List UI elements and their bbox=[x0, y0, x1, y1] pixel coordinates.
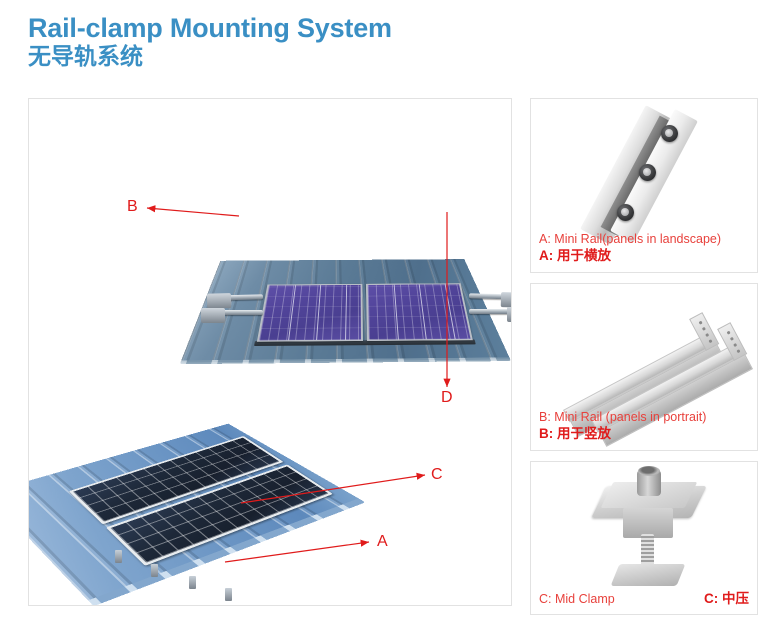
rail-end-plate bbox=[717, 322, 747, 361]
callout-label-c: C bbox=[431, 466, 443, 484]
rail-end-cap-icon bbox=[201, 308, 225, 323]
roof-mounting-foot bbox=[115, 550, 122, 563]
roof-mounting-foot bbox=[151, 564, 158, 577]
clamp-cap-nut-icon bbox=[637, 470, 661, 496]
nut-top-icon bbox=[638, 466, 660, 476]
card-caption-chinese: C: 中压 bbox=[704, 590, 749, 607]
page-header: Rail-clamp Mounting System 无导轨系统 bbox=[28, 14, 528, 70]
page-root: Rail-clamp Mounting System 无导轨系统 bbox=[0, 0, 763, 617]
product-card-mini-rail-landscape[interactable]: A: Mini Rail(panels in landscape) A: 用于横… bbox=[530, 98, 758, 273]
roof-mounting-foot bbox=[189, 576, 196, 589]
figure-mini-rail-portrait bbox=[531, 284, 757, 424]
product-card-mini-rail-portrait[interactable]: B: Mini Rail (panels in portrait) B: 用于竖… bbox=[530, 283, 758, 451]
scene-landscape-array bbox=[29, 99, 512, 384]
rail-end-cap-icon bbox=[501, 292, 512, 308]
rail-end-cap-icon bbox=[207, 293, 231, 309]
rail-bolt-icon bbox=[661, 125, 678, 142]
page-title-english: Rail-clamp Mounting System bbox=[28, 14, 528, 42]
figure-mini-rail-landscape bbox=[531, 99, 757, 249]
main-illustration-panel: B D C A bbox=[28, 98, 512, 606]
product-card-mid-clamp[interactable]: C: Mid Clamp C: 中压 bbox=[530, 461, 758, 615]
scene-portrait-array bbox=[29, 374, 512, 606]
card-caption-english: B: Mini Rail (panels in portrait) bbox=[539, 410, 749, 425]
rail-end-cap-icon bbox=[507, 307, 512, 322]
page-title-chinese: 无导轨系统 bbox=[28, 43, 528, 69]
panel-busbar bbox=[288, 285, 296, 340]
mini-rail-left-lower bbox=[201, 310, 263, 315]
mid-clamp-illustration bbox=[593, 468, 705, 590]
card-caption-chinese: B: 用于竖放 bbox=[539, 425, 749, 442]
roof-mounting-foot bbox=[225, 588, 232, 601]
clamp-threaded-bolt bbox=[641, 534, 654, 568]
panel-busbar bbox=[345, 285, 347, 340]
card-caption: C: Mid Clamp C: 中压 bbox=[531, 590, 757, 613]
panel-busbar bbox=[444, 284, 455, 339]
card-caption: A: Mini Rail(panels in landscape) A: 用于横… bbox=[531, 232, 757, 270]
panel-busbar bbox=[393, 285, 398, 340]
card-caption: B: Mini Rail (panels in portrait) B: 用于竖… bbox=[531, 410, 757, 448]
solar-panel-poly-right bbox=[366, 283, 473, 341]
callout-label-d: D bbox=[441, 389, 453, 407]
callout-label-a: A bbox=[377, 533, 388, 551]
rail-bolt-icon bbox=[617, 204, 634, 221]
rail-bolt-icon bbox=[639, 164, 656, 181]
mini-rail-illustration bbox=[577, 101, 727, 247]
callout-label-b: B bbox=[127, 198, 138, 216]
card-caption-english: C: Mid Clamp bbox=[539, 592, 615, 607]
mini-rail-right-lower bbox=[469, 309, 512, 314]
l-rail-pair-illustration bbox=[545, 288, 749, 420]
figure-mid-clamp bbox=[531, 462, 757, 590]
card-caption-english: A: Mini Rail(panels in landscape) bbox=[539, 232, 749, 247]
panel-busbar bbox=[316, 285, 321, 340]
card-caption-chinese: A: 用于横放 bbox=[539, 247, 749, 264]
bolt-hole-icon bbox=[621, 208, 629, 216]
panel-busbar bbox=[419, 285, 427, 340]
bolt-hole-icon bbox=[665, 129, 673, 137]
solar-panel-poly-left bbox=[257, 284, 363, 342]
clamp-t-head-base bbox=[611, 564, 686, 586]
rail-end-plate bbox=[689, 312, 719, 351]
solar-panel-array-landscape bbox=[257, 283, 473, 342]
bolt-hole-icon bbox=[643, 168, 651, 176]
product-card-list: A: Mini Rail(panels in landscape) A: 用于横… bbox=[530, 98, 758, 625]
